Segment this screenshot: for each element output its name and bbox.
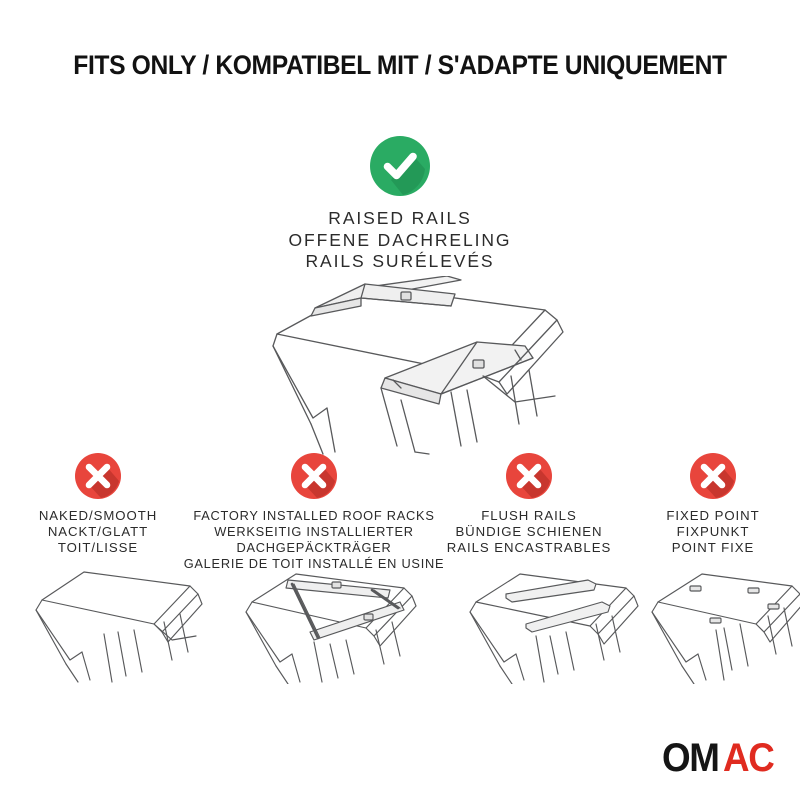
factory-racks-label-en: FACTORY INSTALLED ROOF RACKS [184,508,445,524]
car-roof-with-flush-rails-illustration [442,562,640,684]
car-roof-with-factory-crossbars-illustration [214,558,440,684]
x-circle-icon [505,452,553,500]
car-roof-with-fixed-points-illustration [628,562,800,684]
factory-racks-badge [290,448,338,504]
incompatible-illustrations [0,556,800,696]
naked-smooth-label-en: NAKED/SMOOTH [39,508,157,524]
naked-smooth-labels: NAKED/SMOOTH NACKT/GLATT TOIT/LISSE [39,508,157,556]
compatible-badge-wrap [0,130,800,202]
fixed-point-labels: FIXED POINT FIXPUNKT POINT FIXE [666,508,759,556]
incompatible-item-naked-smooth: NAKED/SMOOTH NACKT/GLATT TOIT/LISSE [0,448,196,556]
logo-text-dark: OM [662,738,719,778]
factory-racks-label-de-2: DACHGEPÄCKTRÄGER [184,540,445,556]
fixed-point-label-en: FIXED POINT [666,508,759,524]
check-circle-icon [369,135,431,197]
factory-racks-label-de-1: WERKSEITIG INSTALLIERTER [184,524,445,540]
fixed-point-label-de: FIXPUNKT [666,524,759,540]
naked-smooth-badge [74,448,122,504]
fixed-point-badge [689,448,737,504]
compatible-labels: RAISED RAILS OFFENE DACHRELING RAILS SUR… [0,208,800,273]
flush-rails-label-fr: RAILS ENCASTRABLES [447,540,611,556]
omac-logo: OM AC [662,738,778,778]
flush-rails-labels: FLUSH RAILS BÜNDIGE SCHIENEN RAILS ENCAS… [447,508,611,556]
x-circle-icon [689,452,737,500]
fixed-point-label-fr: POINT FIXE [666,540,759,556]
incompatible-item-flush-rails: FLUSH RAILS BÜNDIGE SCHIENEN RAILS ENCAS… [432,448,626,556]
x-circle-icon [290,452,338,500]
page-title: FITS ONLY / KOMPATIBEL MIT / S'ADAPTE UN… [28,50,772,81]
incompatible-item-fixed-point: FIXED POINT FIXPUNKT POINT FIXE [626,448,800,556]
flush-rails-label-de: BÜNDIGE SCHIENEN [447,524,611,540]
incompatible-item-factory-installed-roof-racks: FACTORY INSTALLED ROOF RACKS WERKSEITIG … [196,448,432,572]
naked-smooth-label-de: NACKT/GLATT [39,524,157,540]
compatible-label-en: RAISED RAILS [0,208,800,230]
compatible-label-fr: RAILS SURÉLEVÉS [0,251,800,273]
compatible-section: RAISED RAILS OFFENE DACHRELING RAILS SUR… [0,130,800,273]
naked-smooth-label-fr: TOIT/LISSE [39,540,157,556]
logo-text-red: AC [723,738,773,778]
flush-rails-label-en: FLUSH RAILS [447,508,611,524]
car-roof-with-raised-rails-illustration [215,276,635,456]
header-banner: FITS ONLY / KOMPATIBEL MIT / S'ADAPTE UN… [0,50,800,81]
compatible-label-de: OFFENE DACHRELING [0,230,800,252]
x-circle-icon [74,452,122,500]
incompatible-section: NAKED/SMOOTH NACKT/GLATT TOIT/LISSE FACT… [0,448,800,572]
flush-rails-badge [505,448,553,504]
car-roof-naked-smooth-illustration [8,564,204,684]
